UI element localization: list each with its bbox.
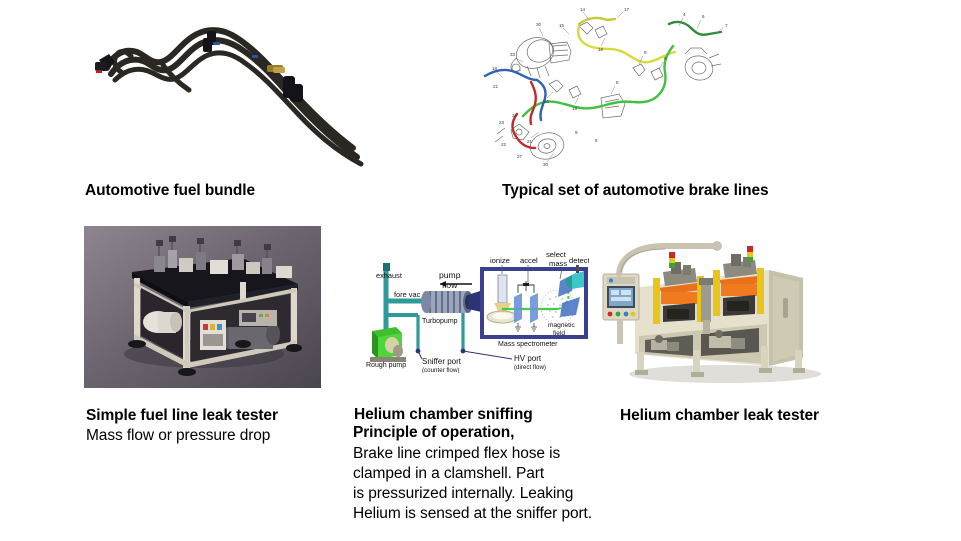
label-mass-spectrometer: Mass spectrometer [498, 341, 558, 348]
brake-lines-image: 1417 1615 46 730 3320 198 95 2130 1821 2… [483, 6, 738, 168]
svg-text:33: 33 [510, 52, 516, 57]
caption-fuel-tester-title: Simple fuel line leak tester [86, 406, 278, 425]
label-hv-sub: (direct flow) [514, 364, 546, 371]
svg-text:22: 22 [501, 142, 507, 147]
svg-text:6: 6 [702, 14, 705, 19]
label-detect: detect [569, 256, 589, 265]
slide-canvas: 1417 1615 46 730 3320 198 95 2130 1821 2… [0, 0, 961, 541]
principle-line-2: clamped in a clamshell. Part [353, 464, 544, 485]
caption-brake-lines: Typical set of automotive brake lines [502, 181, 768, 200]
label-sniffer-sub: (counter flow) [422, 367, 459, 373]
svg-text:21: 21 [527, 139, 533, 144]
svg-text:6: 6 [595, 138, 598, 143]
svg-text:16: 16 [598, 47, 604, 52]
caption-fuel-tester-subtitle: Mass flow or pressure drop [86, 426, 270, 445]
label-magnetic: magnetic [548, 322, 575, 329]
label-field: field [553, 330, 565, 337]
label-pump: pump [439, 270, 461, 280]
svg-text:4: 4 [683, 12, 686, 17]
label-mass: mass [549, 259, 567, 268]
svg-text:14: 14 [580, 7, 586, 12]
svg-text:8: 8 [616, 80, 619, 85]
principle-heading: Principle of operation, [353, 423, 514, 442]
label-exhaust: exhaust [376, 271, 402, 280]
svg-text:23: 23 [499, 120, 505, 125]
label-select: select [546, 250, 567, 259]
fuel-line-leak-tester-image [84, 226, 321, 388]
caption-helium-sniffing-title: Helium chamber sniffing [354, 405, 533, 424]
principle-line-3: is pressurized internally. Leaking [353, 484, 573, 505]
label-turbopump: Turbopump [422, 318, 458, 325]
svg-text:5: 5 [664, 56, 667, 61]
svg-text:24: 24 [512, 113, 518, 118]
svg-text:30: 30 [536, 22, 542, 27]
svg-text:15: 15 [559, 23, 565, 28]
svg-text:27: 27 [517, 154, 523, 159]
mass-spectrometer-schematic: exhaust fore vac pump flow Turbopump Rou… [362, 247, 589, 373]
label-rough-pump: Rough pump [366, 362, 406, 369]
principle-line-1: Brake line crimped flex hose is [353, 444, 560, 465]
label-flow: flow [442, 280, 458, 290]
label-accel: accel [520, 256, 538, 265]
principle-line-4: Helium is sensed at the sniffer port. [353, 504, 592, 525]
svg-text:30: 30 [543, 162, 549, 167]
caption-fuel-bundle: Automotive fuel bundle [85, 181, 255, 200]
svg-text:9: 9 [575, 130, 578, 135]
fuel-bundle-image [85, 12, 367, 167]
svg-text:21: 21 [493, 84, 499, 89]
svg-text:18: 18 [492, 66, 498, 71]
svg-text:20: 20 [544, 99, 550, 104]
label-ionize: ionize [490, 256, 510, 265]
svg-text:7: 7 [725, 23, 728, 28]
caption-helium-tester-title: Helium chamber leak tester [620, 406, 819, 425]
label-sniffer-port: Sniffer port [422, 357, 462, 366]
helium-chamber-leak-tester-image [597, 232, 844, 389]
label-fore-vac: fore vac [394, 290, 421, 299]
svg-text:19: 19 [572, 106, 578, 111]
svg-text:17: 17 [624, 7, 630, 12]
label-hv-port: HV port [514, 354, 542, 363]
svg-text:9: 9 [644, 50, 647, 55]
